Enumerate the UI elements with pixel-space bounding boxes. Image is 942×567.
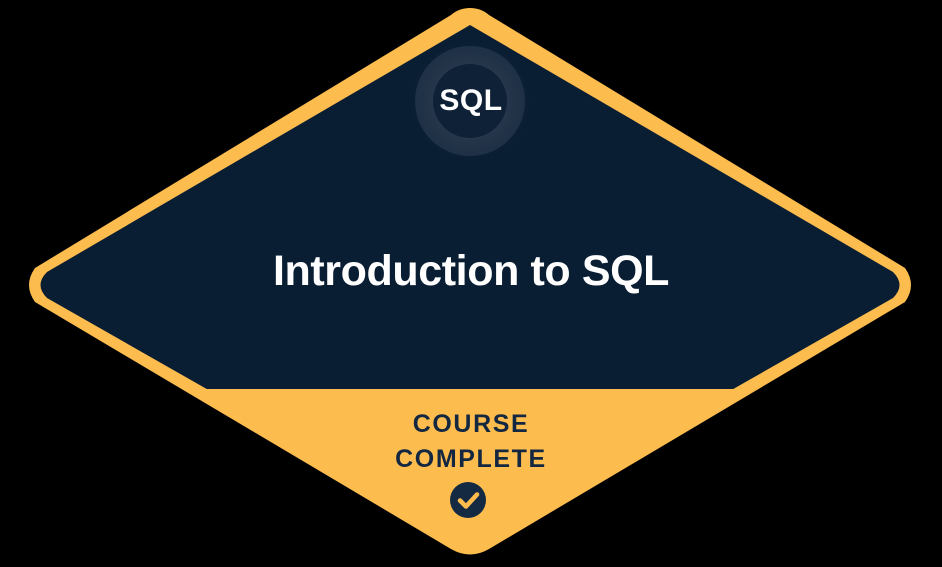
course-completion-badge: SQL Introduction to SQL COURSE COMPLETE	[0, 0, 942, 567]
check-circle-icon	[450, 482, 486, 518]
monogram-inner-disc	[433, 64, 507, 138]
badge-artwork	[0, 0, 942, 567]
